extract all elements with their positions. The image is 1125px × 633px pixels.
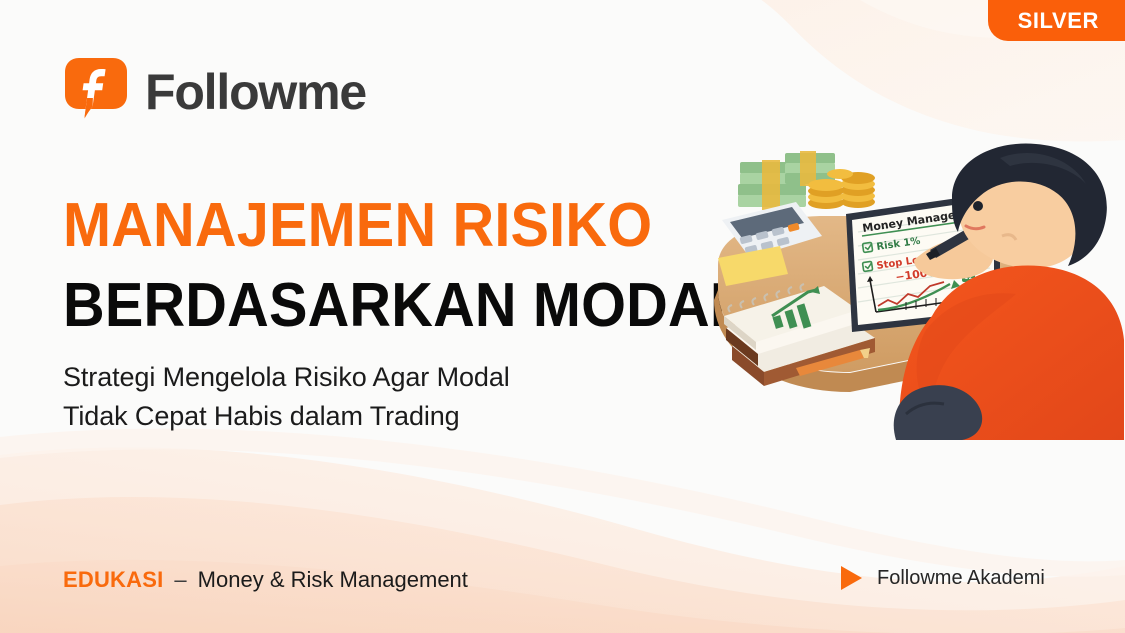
subtitle-line-1: Strategi Mengelola Risiko Agar Modal — [63, 358, 510, 397]
logo-wordmark: Followme — [145, 67, 366, 117]
wave-bottom-1 — [0, 447, 1125, 633]
poster-canvas: SILVER Followme MANAJEMEN RISIKO BERDASA… — [0, 0, 1125, 633]
footer-category-label: EDUKASI — [63, 567, 163, 593]
footer-brand-block: Followme Akademi — [841, 566, 1045, 590]
status-badge: SILVER — [988, 0, 1125, 41]
wave-sheen — [0, 429, 1125, 577]
subtitle: Strategi Mengelola Risiko Agar Modal Tid… — [63, 358, 510, 436]
footer-category-block: EDUKASI – Money & Risk Management — [63, 567, 468, 593]
eye — [973, 201, 983, 211]
page-title: MANAJEMEN RISIKO BERDASARKAN MODAL — [63, 186, 797, 346]
footer-topic-label: Money & Risk Management — [198, 567, 468, 593]
followme-f-bubble-icon-svg — [63, 57, 129, 127]
footer-separator: – — [174, 567, 186, 593]
headline-line-2: BERDASARKAN MODAL — [63, 266, 745, 346]
headline-line-1: MANAJEMEN RISIKO — [63, 186, 745, 266]
illustration-svg: Money Management Risk 1% Stop Loss 1:2 −… — [700, 140, 1125, 440]
brand-logo: Followme — [63, 57, 366, 127]
footer-brand-label: Followme Akademi — [877, 567, 1045, 590]
wave-bottom-2 — [0, 497, 1125, 633]
subtitle-line-2: Tidak Cepat Habis dalam Trading — [63, 397, 510, 436]
play-triangle-icon — [841, 566, 862, 590]
badge-label: SILVER — [1018, 8, 1099, 34]
followme-f-bubble-icon — [63, 57, 129, 127]
trader-desk-illustration: Money Management Risk 1% Stop Loss 1:2 −… — [700, 140, 1125, 440]
